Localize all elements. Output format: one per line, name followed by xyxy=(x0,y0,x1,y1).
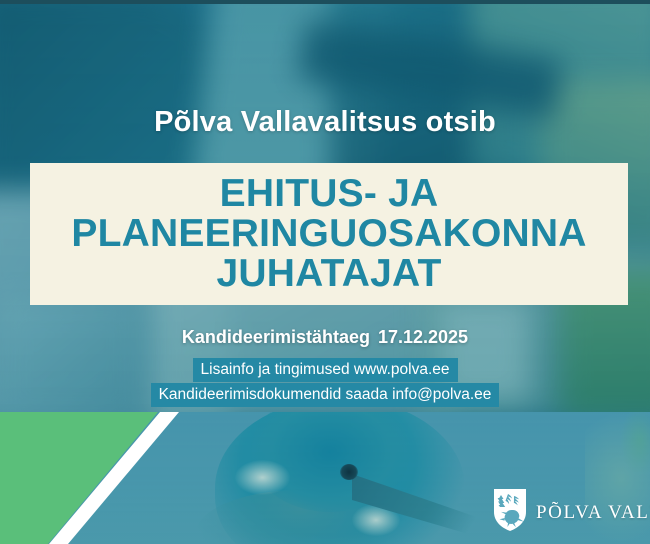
deadline-date: 17.12.2025 xyxy=(378,327,468,347)
job-title-line-3: JUHATAJAT xyxy=(71,254,586,294)
headline: Põlva Vallavalitsus otsib xyxy=(0,106,650,139)
job-title-line-2: PLANEERINGUOSAKONNA xyxy=(71,214,586,254)
polva-vald-shield-crest-icon xyxy=(493,488,527,537)
top-edge-strip xyxy=(0,0,650,4)
deadline-label: Kandideerimistähtaeg xyxy=(182,327,370,347)
contact-info: Lisainfo ja tingimused www.polva.ee Kand… xyxy=(0,358,650,407)
job-title-line-1: EHITUS- JA xyxy=(71,174,586,214)
contact-row-1: Lisainfo ja tingimused www.polva.ee xyxy=(0,358,650,382)
contact-email-line[interactable]: Kandideerimisdokumendid saada info@polva… xyxy=(151,383,500,407)
polva-vald-logo: PÕLVA VALD xyxy=(493,488,650,537)
job-advertisement-poster: Põlva Vallavalitsus otsib EHITUS- JA PLA… xyxy=(0,0,650,544)
application-deadline: Kandideerimistähtaeg17.12.2025 xyxy=(0,327,650,348)
title-panel: EHITUS- JA PLANEERINGUOSAKONNA JUHATAJAT xyxy=(30,163,628,305)
contact-website-line[interactable]: Lisainfo ja tingimused www.polva.ee xyxy=(193,358,458,382)
logo-wordmark: PÕLVA VALD xyxy=(536,502,650,524)
contact-row-2: Kandideerimisdokumendid saada info@polva… xyxy=(0,383,650,407)
job-title: EHITUS- JA PLANEERINGUOSAKONNA JUHATAJAT xyxy=(63,174,594,294)
